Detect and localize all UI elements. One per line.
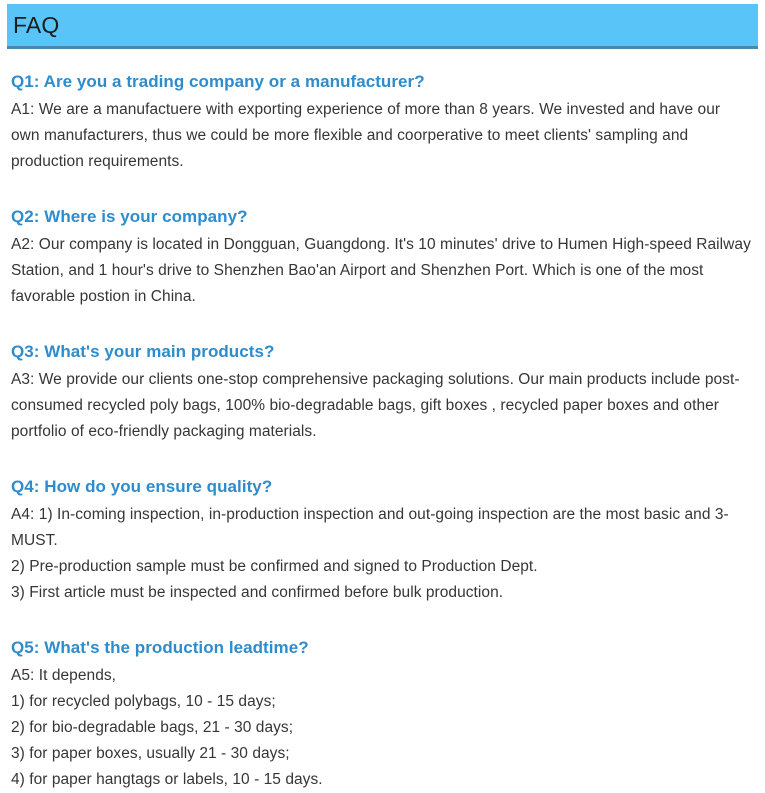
faq-answer: A2: Our company is located in Dongguan, … (11, 232, 753, 310)
faq-banner: FAQ (7, 4, 758, 49)
faq-answer-line: 1) for recycled polybags, 10 - 15 days; (11, 689, 753, 715)
faq-answer: A5: It depends, 1) for recycled polybags… (11, 663, 753, 793)
faq-answer-line: 3) First article must be inspected and c… (11, 580, 753, 606)
faq-content: Q1: Are you a trading company or a manuf… (11, 70, 753, 793)
faq-question: Q4: How do you ensure quality? (11, 475, 753, 499)
faq-answer-line: A3: We provide our clients one-stop comp… (11, 367, 753, 445)
page-title: FAQ (13, 11, 59, 39)
faq-answer-line: A5: It depends, (11, 663, 753, 689)
faq-answer: A1: We are a manufactuere with exporting… (11, 97, 753, 175)
faq-item: Q1: Are you a trading company or a manuf… (11, 70, 753, 175)
faq-answer-line: A2: Our company is located in Dongguan, … (11, 232, 753, 310)
faq-answer: A4: 1) In-coming inspection, in-producti… (11, 502, 753, 606)
faq-question: Q3: What's your main products? (11, 340, 753, 364)
faq-answer: A3: We provide our clients one-stop comp… (11, 367, 753, 445)
faq-question: Q2: Where is your company? (11, 205, 753, 229)
faq-item: Q5: What's the production leadtime? A5: … (11, 636, 753, 793)
faq-answer-line: 4) for paper hangtags or labels, 10 - 15… (11, 767, 753, 793)
faq-question: Q5: What's the production leadtime? (11, 636, 753, 660)
faq-item: Q3: What's your main products? A3: We pr… (11, 340, 753, 445)
faq-item: Q2: Where is your company? A2: Our compa… (11, 205, 753, 310)
faq-answer-line: 3) for paper boxes, usually 21 - 30 days… (11, 741, 753, 767)
faq-answer-line: 2) Pre-production sample must be confirm… (11, 554, 753, 580)
faq-answer-line: 2) for bio-degradable bags, 21 - 30 days… (11, 715, 753, 741)
faq-question: Q1: Are you a trading company or a manuf… (11, 70, 753, 94)
faq-answer-line: A1: We are a manufactuere with exporting… (11, 97, 753, 175)
faq-page: FAQ Q1: Are you a trading company or a m… (0, 0, 765, 748)
faq-answer-line: A4: 1) In-coming inspection, in-producti… (11, 502, 753, 554)
faq-item: Q4: How do you ensure quality? A4: 1) In… (11, 475, 753, 606)
